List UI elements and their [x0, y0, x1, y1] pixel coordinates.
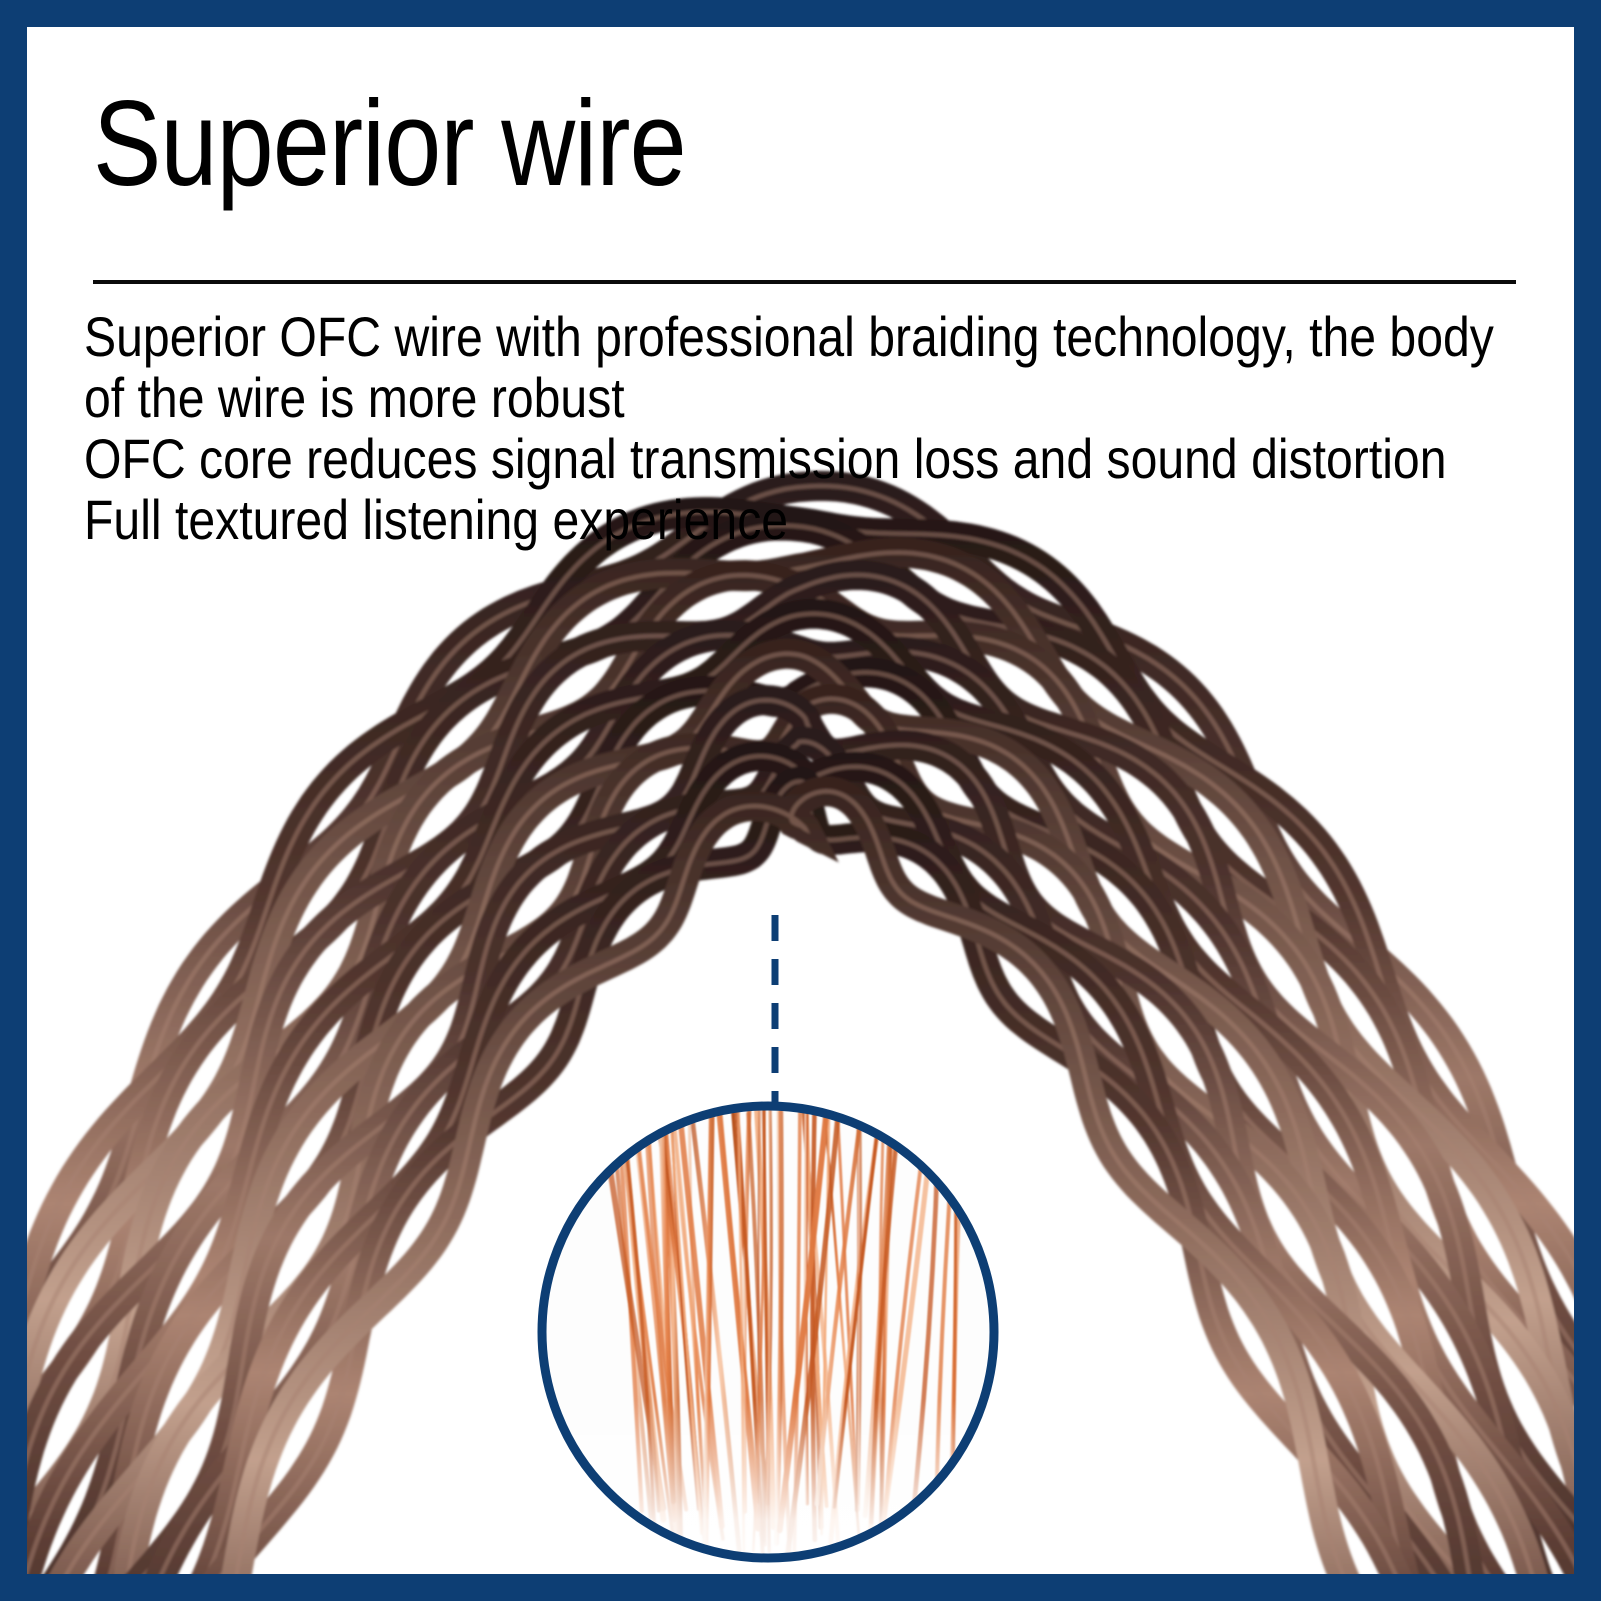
- copper-filament: [764, 1107, 771, 1541]
- magnifier-callout: [530, 1088, 1010, 1590]
- illustration-svg: [0, 0, 1601, 1601]
- cable-strand: [71, 781, 1551, 1601]
- copper-filament: [759, 1099, 761, 1536]
- copper-filament: [610, 1091, 651, 1517]
- copper-filament: [835, 1097, 882, 1508]
- copper-filament: [806, 1094, 807, 1503]
- cable-strand-highlight: [71, 781, 1551, 1601]
- copper-filament: [671, 1109, 698, 1510]
- callout-circle-ring: [542, 1106, 994, 1558]
- cable-strand-highlight: [0, 672, 1601, 1601]
- copper-filament: [672, 1105, 723, 1539]
- copper-filament: [753, 1091, 764, 1551]
- copper-filament: [738, 1099, 744, 1563]
- page-title: Superior wire: [93, 82, 686, 204]
- copper-filament: [801, 1098, 839, 1566]
- copper-filament: [881, 1095, 892, 1544]
- border-bottom: [0, 1574, 1601, 1601]
- copper-filament: [622, 1106, 655, 1546]
- copper-filament: [949, 1099, 955, 1527]
- copper-filament: [660, 1090, 673, 1501]
- cable-strand: [5, 756, 1601, 1601]
- copper-filament: [871, 1107, 900, 1523]
- copper-filament: [764, 1094, 770, 1551]
- cable-strand-highlight: [0, 486, 1601, 1601]
- copper-filament: [831, 1096, 883, 1543]
- copper-filament: [817, 1097, 863, 1505]
- copper-filament: [857, 1104, 859, 1511]
- copper-filament: [719, 1111, 758, 1529]
- copper-filament: [663, 1089, 701, 1519]
- cable-strand-highlight: [0, 575, 1601, 1601]
- copper-filament: [689, 1111, 704, 1506]
- copper-filament: [936, 1097, 957, 1544]
- copper-filament: [812, 1102, 814, 1540]
- cable-strand: [0, 654, 1601, 1601]
- copper-filament: [756, 1105, 773, 1527]
- cable-strand-highlight: [0, 553, 1601, 1601]
- cable-strand: [0, 635, 1601, 1601]
- title-divider-rule: [93, 280, 1516, 284]
- description-line: Superior OFC wire with professional brai…: [84, 306, 1340, 367]
- cable-strand: [0, 575, 1601, 1601]
- border-top: [0, 0, 1601, 27]
- copper-filament: [623, 1106, 664, 1520]
- copper-filament: [870, 1111, 895, 1547]
- copper-filament: [646, 1106, 678, 1552]
- copper-filament: [865, 1099, 891, 1516]
- cable-strand: [15, 742, 1574, 1601]
- cable-strand-highlight: [0, 654, 1601, 1601]
- copper-filament: [748, 1114, 764, 1545]
- cable-strand-highlight: [0, 699, 1601, 1601]
- copper-strand-bundle: [530, 1088, 1010, 1590]
- cable-strand-highlight: [0, 526, 1601, 1601]
- callout-circle-background: [542, 1106, 994, 1558]
- copper-filament: [786, 1110, 839, 1570]
- copper-filament: [824, 1100, 861, 1561]
- cable-strand: [0, 672, 1601, 1601]
- product-illustration: [0, 0, 1601, 1601]
- copper-filament: [794, 1106, 800, 1567]
- copper-filament: [744, 1106, 749, 1512]
- infographic-page: Superior wire Superior OFC wire with pro…: [0, 0, 1601, 1601]
- copper-filament: [690, 1097, 741, 1565]
- copper-filament: [880, 1090, 884, 1524]
- cable-strand-highlight: [0, 575, 1601, 1601]
- copper-filament: [602, 1113, 664, 1508]
- copper-filament: [657, 1100, 700, 1507]
- cable-strand: [0, 699, 1601, 1601]
- copper-filament: [736, 1096, 763, 1564]
- copper-filament: [803, 1091, 821, 1527]
- feature-description-block: Superior OFC wire with professional brai…: [84, 306, 1340, 550]
- copper-filament: [807, 1098, 827, 1506]
- copper-filament: [615, 1094, 676, 1562]
- copper-filament: [882, 1100, 929, 1553]
- description-line: Full textured listening experience: [84, 489, 1340, 550]
- cable-strand-highlight: [0, 512, 1601, 1601]
- copper-filament: [779, 1102, 791, 1563]
- cable-strand-highlight: [0, 614, 1601, 1601]
- copper-filament: [705, 1111, 712, 1546]
- copper-filament: [678, 1099, 721, 1526]
- cable-strand-highlight: [0, 635, 1601, 1601]
- copper-filament: [776, 1112, 781, 1543]
- cable-strand: [0, 526, 1601, 1601]
- cable-strand: [0, 486, 1601, 1601]
- copper-filament: [780, 1096, 828, 1530]
- copper-filament: [915, 1094, 940, 1500]
- cable-strand: [0, 512, 1601, 1601]
- border-right: [1574, 0, 1601, 1601]
- copper-filament: [618, 1097, 659, 1511]
- cable-strand: [28, 791, 1552, 1601]
- border-left: [0, 0, 27, 1601]
- description-line: OFC core reduces signal transmission los…: [84, 428, 1340, 489]
- copper-filament: [733, 1107, 768, 1504]
- copper-filament: [669, 1091, 702, 1534]
- description-line: of the wire is more robust: [84, 367, 1340, 428]
- cable-strand: [0, 700, 1601, 1601]
- copper-filament: [618, 1106, 642, 1512]
- cable-strand-highlight: [15, 742, 1574, 1601]
- copper-filament: [656, 1106, 705, 1546]
- copper-filament: [634, 1105, 686, 1510]
- copper-filament: [952, 1112, 962, 1516]
- copper-filament: [822, 1088, 830, 1534]
- copper-filament: [662, 1095, 680, 1554]
- cable-strand-highlight: [28, 791, 1552, 1601]
- copper-filament: [837, 1102, 857, 1504]
- cable-strand: [0, 575, 1601, 1601]
- copper-filament: [647, 1110, 682, 1532]
- braided-cable-arc: [0, 486, 1601, 1601]
- copper-filament: [720, 1101, 759, 1502]
- cable-strand-highlight: [0, 700, 1601, 1601]
- cable-strand: [0, 553, 1601, 1601]
- copper-filament: [671, 1091, 707, 1555]
- cable-strand: [0, 614, 1601, 1601]
- copper-filament: [632, 1099, 675, 1520]
- cable-strand-highlight: [5, 756, 1601, 1601]
- copper-filament: [882, 1108, 934, 1530]
